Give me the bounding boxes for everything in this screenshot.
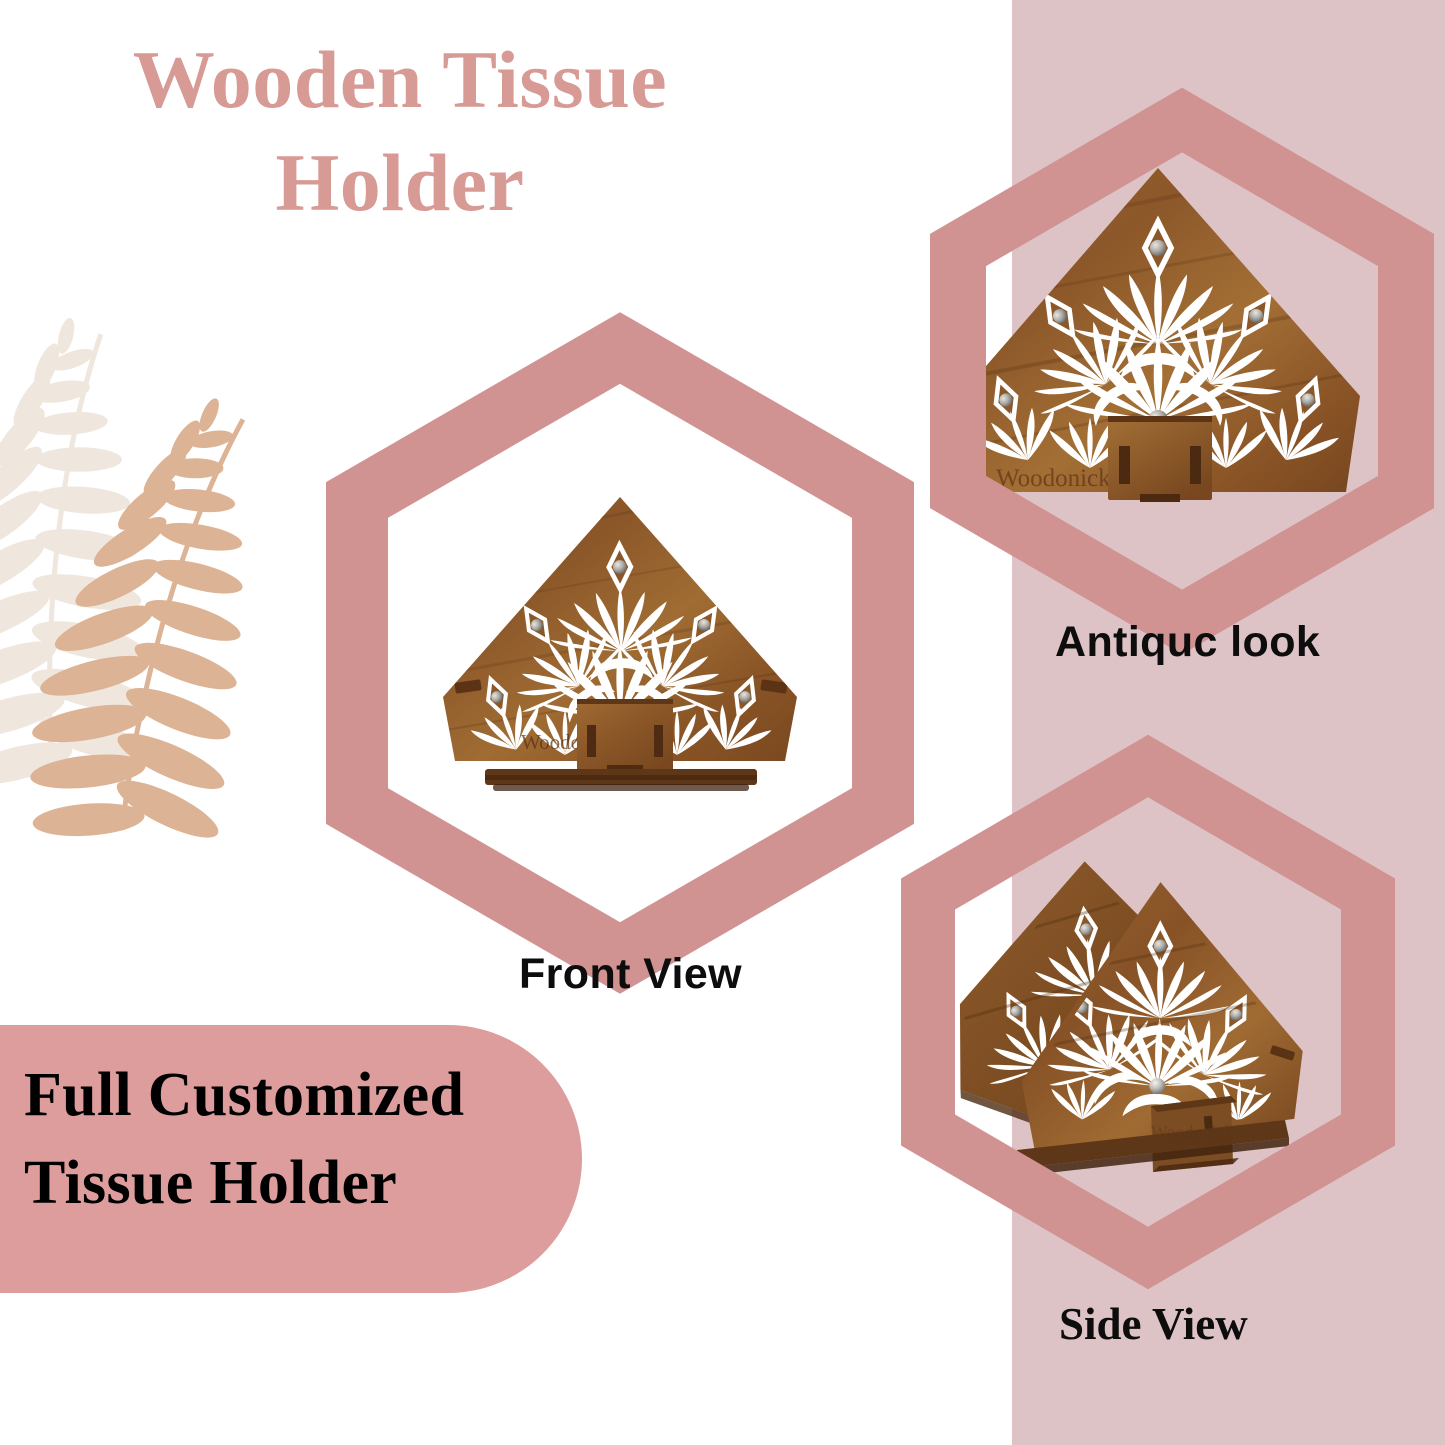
caption-antique-look: Antiquc look	[1055, 618, 1320, 667]
badge-line-1: Full Customized	[24, 1051, 582, 1139]
infographic-canvas: Wooden Tissue Holder	[0, 0, 1445, 1445]
page-title: Wooden Tissue Holder	[0, 28, 800, 235]
caption-front-view: Front View	[519, 950, 742, 999]
title-line-1: Wooden Tissue	[0, 28, 800, 131]
caption-side-view: Side View	[1059, 1298, 1248, 1350]
title-line-2: Holder	[0, 131, 800, 234]
customization-badge: Full Customized Tissue Holder	[0, 1025, 582, 1293]
hexagon-frame-side-view	[890, 750, 1406, 1262]
hexagon-frame-front-view	[300, 330, 940, 976]
hexagon-frame-antique-look	[920, 104, 1444, 624]
fern-frond-icon	[0, 250, 332, 840]
badge-line-2: Tissue Holder	[24, 1139, 582, 1227]
